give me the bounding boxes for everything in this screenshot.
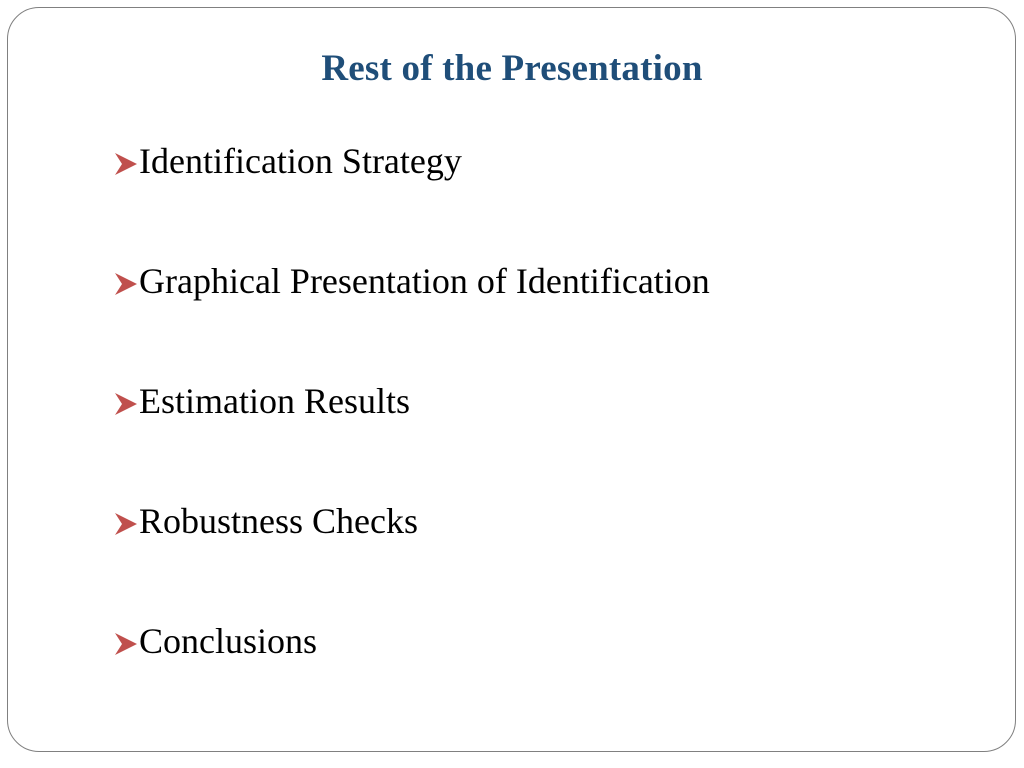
arrowhead-bullet-icon: [113, 506, 139, 542]
presentation-slide: Rest of the Presentation Identification …: [0, 0, 1024, 768]
list-item-label: Robustness Checks: [139, 500, 973, 542]
slide-title: Rest of the Presentation: [0, 48, 1024, 91]
list-item[interactable]: Robustness Checks: [113, 500, 973, 620]
list-item-label: Estimation Results: [139, 380, 973, 422]
arrowhead-bullet-icon: [113, 626, 139, 662]
list-item[interactable]: Identification Strategy: [113, 140, 973, 260]
list-item[interactable]: Graphical Presentation of Identification: [113, 260, 973, 380]
arrowhead-bullet-icon: [113, 386, 139, 422]
arrowhead-bullet-icon: [113, 146, 139, 182]
arrowhead-bullet-icon: [113, 266, 139, 302]
list-item-label: Conclusions: [139, 620, 973, 662]
list-item-label: Identification Strategy: [139, 140, 973, 182]
list-item[interactable]: Estimation Results: [113, 380, 973, 500]
list-item[interactable]: Conclusions: [113, 620, 973, 740]
list-item-label: Graphical Presentation of Identification: [139, 260, 973, 302]
bullet-list: Identification Strategy Graphical Presen…: [113, 140, 973, 740]
